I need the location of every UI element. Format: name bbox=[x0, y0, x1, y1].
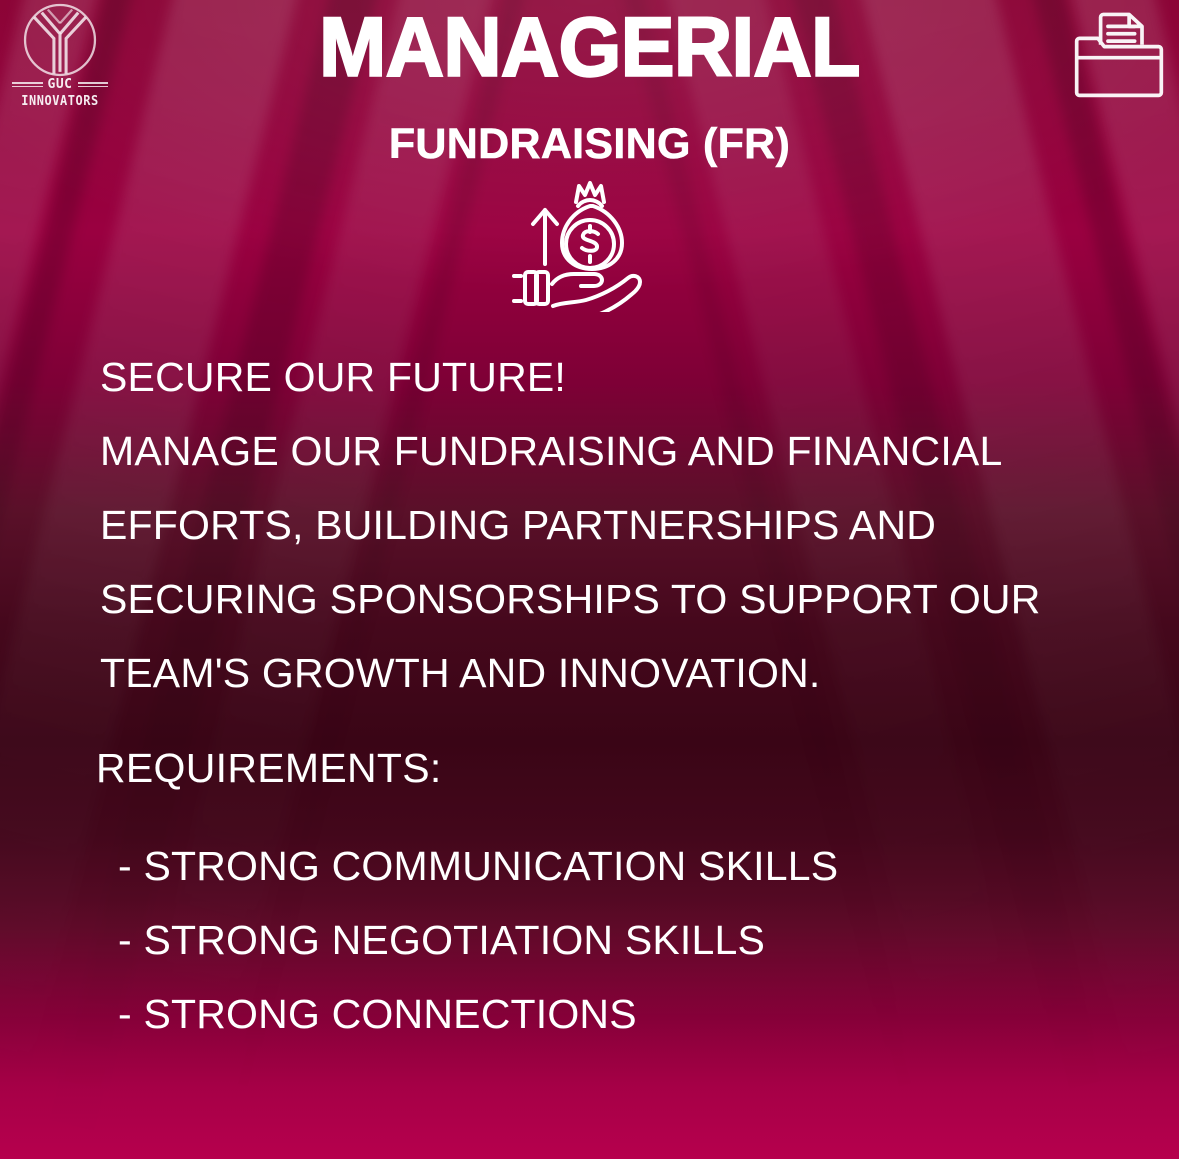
page-subtitle: FUNDRAISING (FR) bbox=[0, 120, 1179, 169]
money-bag-hand-growth-icon bbox=[512, 172, 668, 312]
requirement-item: - STRONG NEGOTIATION SKILLS bbox=[96, 903, 1096, 977]
requirement-item: - STRONG CONNECTIONS bbox=[96, 977, 1096, 1051]
page-title: MANAGERIAL bbox=[0, 6, 1179, 90]
body-line: SECURE OUR FUTURE! bbox=[100, 340, 1060, 414]
requirements-list: - STRONG COMMUNICATION SKILLS - STRONG N… bbox=[96, 829, 1096, 1051]
body-copy: SECURE OUR FUTURE! MANAGE OUR FUNDRAISIN… bbox=[100, 340, 1060, 710]
recruitment-poster: GUC INNOVATORS MANAGERIAL FUNDRAISING (F… bbox=[0, 0, 1179, 1159]
requirements-block: REQUIREMENTS: - STRONG COMMUNICATION SKI… bbox=[96, 748, 1096, 1051]
body-line: TEAM'S GROWTH AND INNOVATION. bbox=[100, 636, 1060, 710]
body-line: SECURING SPONSORSHIPS TO SUPPORT OUR bbox=[100, 562, 1060, 636]
requirement-item: - STRONG COMMUNICATION SKILLS bbox=[96, 829, 1096, 903]
body-line: MANAGE OUR FUNDRAISING AND FINANCIAL bbox=[100, 414, 1060, 488]
requirements-heading: REQUIREMENTS: bbox=[96, 748, 1096, 789]
body-line: EFFORTS, BUILDING PARTNERSHIPS AND bbox=[100, 488, 1060, 562]
header-block: MANAGERIAL FUNDRAISING (FR) bbox=[0, 6, 1179, 169]
